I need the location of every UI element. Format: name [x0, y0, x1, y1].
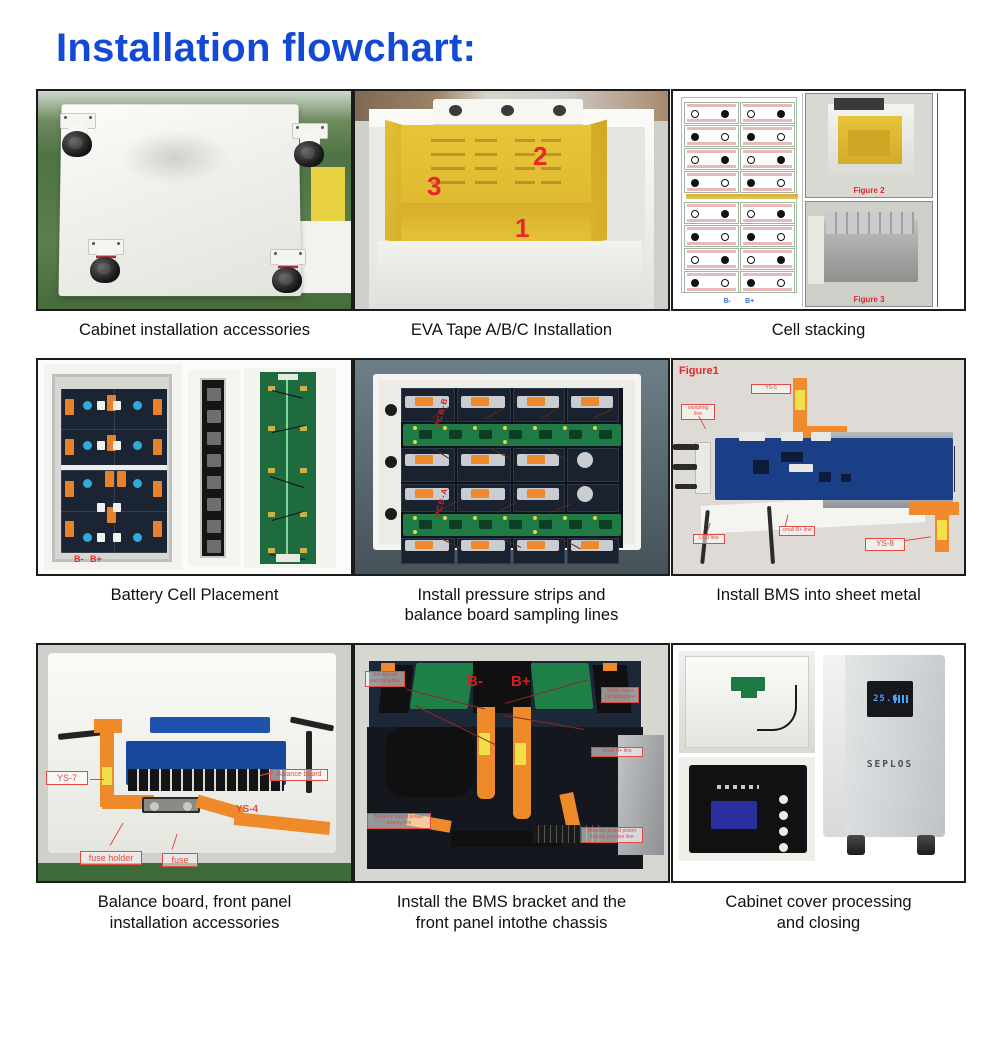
- step-4-terminal-labels: B- B+: [74, 554, 102, 564]
- cabinet-cover-photo: [679, 651, 815, 753]
- step-4-image: B- B+: [36, 358, 353, 576]
- step-7-caption: Balance board, front panel installation …: [36, 892, 353, 932]
- eva-tape-bottom: [401, 203, 591, 241]
- flowchart-grid: Cabinet installation accessories: [0, 89, 1000, 933]
- flowchart-row-1: Cabinet installation accessories: [0, 89, 1000, 340]
- terminal-negative-label: B-: [724, 298, 731, 305]
- harness-cable-2: [673, 464, 697, 470]
- caster-bottom-left: [84, 239, 128, 285]
- pressure-strip-panel: [188, 370, 240, 566]
- cabinet-foot-left: [847, 835, 865, 855]
- eva-marker-3: 3: [427, 173, 441, 199]
- enclosure-with-eva: [828, 104, 914, 174]
- status-leds: [779, 795, 789, 853]
- step-5-image: PCB-B PCB-A: [353, 358, 670, 576]
- step-card-1: Cabinet installation accessories: [36, 89, 353, 340]
- pressure-strip: [200, 378, 226, 558]
- step-6-caption: Install BMS into sheet metal: [671, 585, 966, 605]
- figure-1-label: Figure1: [679, 366, 719, 377]
- step-6-image: Figure1 YS-6 sampling line LCD line smal…: [671, 358, 966, 576]
- annotation-small-bplus-line-8: small B+ line: [591, 747, 643, 757]
- lcd-panel-photo: [679, 757, 815, 861]
- balance-board-upper: [403, 424, 621, 446]
- step-card-6: Figure1 YS-6 sampling line LCD line smal…: [671, 358, 966, 625]
- terminal-positive-label: B+: [745, 298, 754, 305]
- step-1-image: [36, 89, 353, 311]
- figure-3-photo: Figure 3: [805, 201, 933, 307]
- annotation-balance-board: Balance board: [270, 769, 328, 781]
- diagram-divider: [686, 194, 798, 199]
- annotation-ys4: YS-4: [226, 803, 268, 816]
- annotation-balance-power-line: Balance board power supply line: [367, 813, 431, 829]
- step-card-9: 25.6 SEPLOS Cabinet cover processing and…: [671, 643, 966, 932]
- front-lcd-panel: [689, 765, 807, 853]
- enclosure-top-lip: [433, 99, 583, 125]
- battery-tray: PCB-B PCB-A: [373, 374, 641, 550]
- balance-board-lower: [403, 514, 621, 536]
- step-2-caption: EVA Tape A/B/C Installation: [353, 320, 670, 340]
- eva-marker-1: 1: [515, 215, 529, 241]
- panel-branding: [717, 785, 759, 789]
- cabinet-display: 25.6: [867, 681, 913, 717]
- terminal-negative-label-8: B-: [467, 673, 483, 690]
- caster-top-right: [288, 123, 332, 169]
- cell-array: PCB-B PCB-A: [401, 388, 623, 548]
- step-card-4: B- B+: [36, 358, 353, 625]
- step-1-caption: Cabinet installation accessories: [36, 320, 353, 340]
- stacked-cells: [826, 212, 914, 234]
- brand-logo: SEPLOS: [859, 759, 921, 770]
- figure-3-label: Figure 3: [806, 295, 932, 304]
- flowchart-row-3: YS-7 Balance board YS-4 fuse holder fuse…: [0, 643, 1000, 932]
- figure-2-photo: Figure 2: [805, 93, 933, 198]
- copper-bar-bottom: [909, 502, 959, 515]
- annotation-fuse: fuse: [162, 853, 198, 867]
- step-8-image: B- B+ Blackhead sampling line White head…: [353, 643, 670, 883]
- page-title: Installation flowchart:: [56, 26, 1000, 71]
- wire-harness: [385, 727, 475, 797]
- step-7-image: YS-7 Balance board YS-4 fuse holder fuse: [36, 643, 353, 883]
- step-card-3: B- B+ Figure 2: [671, 89, 966, 340]
- step-card-7: YS-7 Balance board YS-4 fuse holder fuse…: [36, 643, 353, 932]
- annotation-lcd-line: LCD line: [693, 534, 725, 544]
- step-9-caption: Cabinet cover processing and closing: [671, 892, 966, 932]
- step-card-5: PCB-B PCB-A Install pressure strips and …: [353, 358, 670, 625]
- strap-tag-right: [515, 743, 526, 765]
- diagram-frame: [681, 97, 797, 293]
- step-8-caption: Install the BMS bracket and the front pa…: [353, 892, 670, 932]
- terminal-positive-label-4: B+: [90, 554, 102, 564]
- panel-edge: [937, 93, 964, 307]
- terminal-negative-label-4: B-: [74, 554, 84, 564]
- step-9-image: 25.6 SEPLOS: [671, 643, 966, 883]
- annotation-blackhead-sampling-line: Blackhead sampling line: [365, 671, 405, 687]
- step-3-image: B- B+ Figure 2: [671, 89, 966, 311]
- cabinet-foot-right: [917, 835, 935, 855]
- step-5-caption: Install pressure strips and balance boar…: [353, 585, 670, 625]
- annotation-ys7: YS-7: [46, 771, 88, 785]
- connector-strip: [150, 717, 270, 733]
- busbar-tag: [102, 767, 112, 785]
- cable-tag-top: [795, 390, 805, 410]
- caster-top-left: [56, 113, 100, 159]
- eva-marker-2: 2: [533, 143, 547, 169]
- step-4-caption: Battery Cell Placement: [36, 585, 353, 605]
- prismatic-cells: [61, 389, 167, 553]
- open-door: [808, 216, 824, 284]
- annotation-balance-power-positive: Balance board power supply positive line: [581, 827, 643, 843]
- cell-stack-top: [834, 98, 884, 110]
- step-card-8: B- B+ Blackhead sampling line White head…: [353, 643, 670, 932]
- annotation-fuse-holder: fuse holder: [80, 851, 142, 865]
- diagram-terminal-labels: B- B+: [675, 298, 803, 305]
- annotation-small-bplus-line: small B+ line: [779, 526, 815, 536]
- relay-row: [128, 769, 284, 791]
- terminal-positive-label-8: B+: [511, 673, 531, 690]
- cell-frame: [52, 374, 172, 562]
- cell-wiring-diagram: B- B+: [675, 93, 803, 307]
- cell-stack-panel: B- B+: [44, 364, 182, 570]
- finished-cabinet-photo: 25.6 SEPLOS: [823, 655, 953, 855]
- panel-shadow: [120, 130, 230, 185]
- step-2-image: 2 3 1: [353, 89, 670, 311]
- enclosure-right-wall: [605, 127, 645, 247]
- caster-bottom-right: [266, 249, 310, 295]
- harness-cable-3: [675, 484, 697, 489]
- fuse: [142, 797, 200, 813]
- annotation-white-head-sampling-line: White head sampling line: [601, 687, 639, 703]
- cable-tag-bottom: [937, 520, 947, 540]
- display-bars: [894, 695, 908, 703]
- panel-cable-right-2: [306, 731, 312, 793]
- balance-board-pcb: [260, 372, 316, 564]
- annotation-sampling-line: sampling line: [681, 404, 715, 420]
- enclosure-floor: [377, 241, 642, 307]
- lcd-screen: [711, 801, 757, 829]
- figure-2-label: Figure 2: [806, 186, 932, 195]
- cover-pcb-small: [741, 691, 757, 698]
- flowchart-row-2: B- B+: [0, 358, 1000, 625]
- step-card-2: 2 3 1 EVA Tape A/B/C Installation: [353, 89, 670, 340]
- balance-board-panel: [244, 368, 336, 568]
- annotation-ys6: YS-6: [751, 384, 791, 394]
- bms-pcb: [715, 438, 953, 500]
- annotation-ys8: YS-8: [865, 538, 905, 551]
- cabinet-front-edge: [823, 655, 845, 837]
- step-3-caption: Cell stacking: [671, 320, 966, 340]
- harness-cable-1: [673, 444, 699, 450]
